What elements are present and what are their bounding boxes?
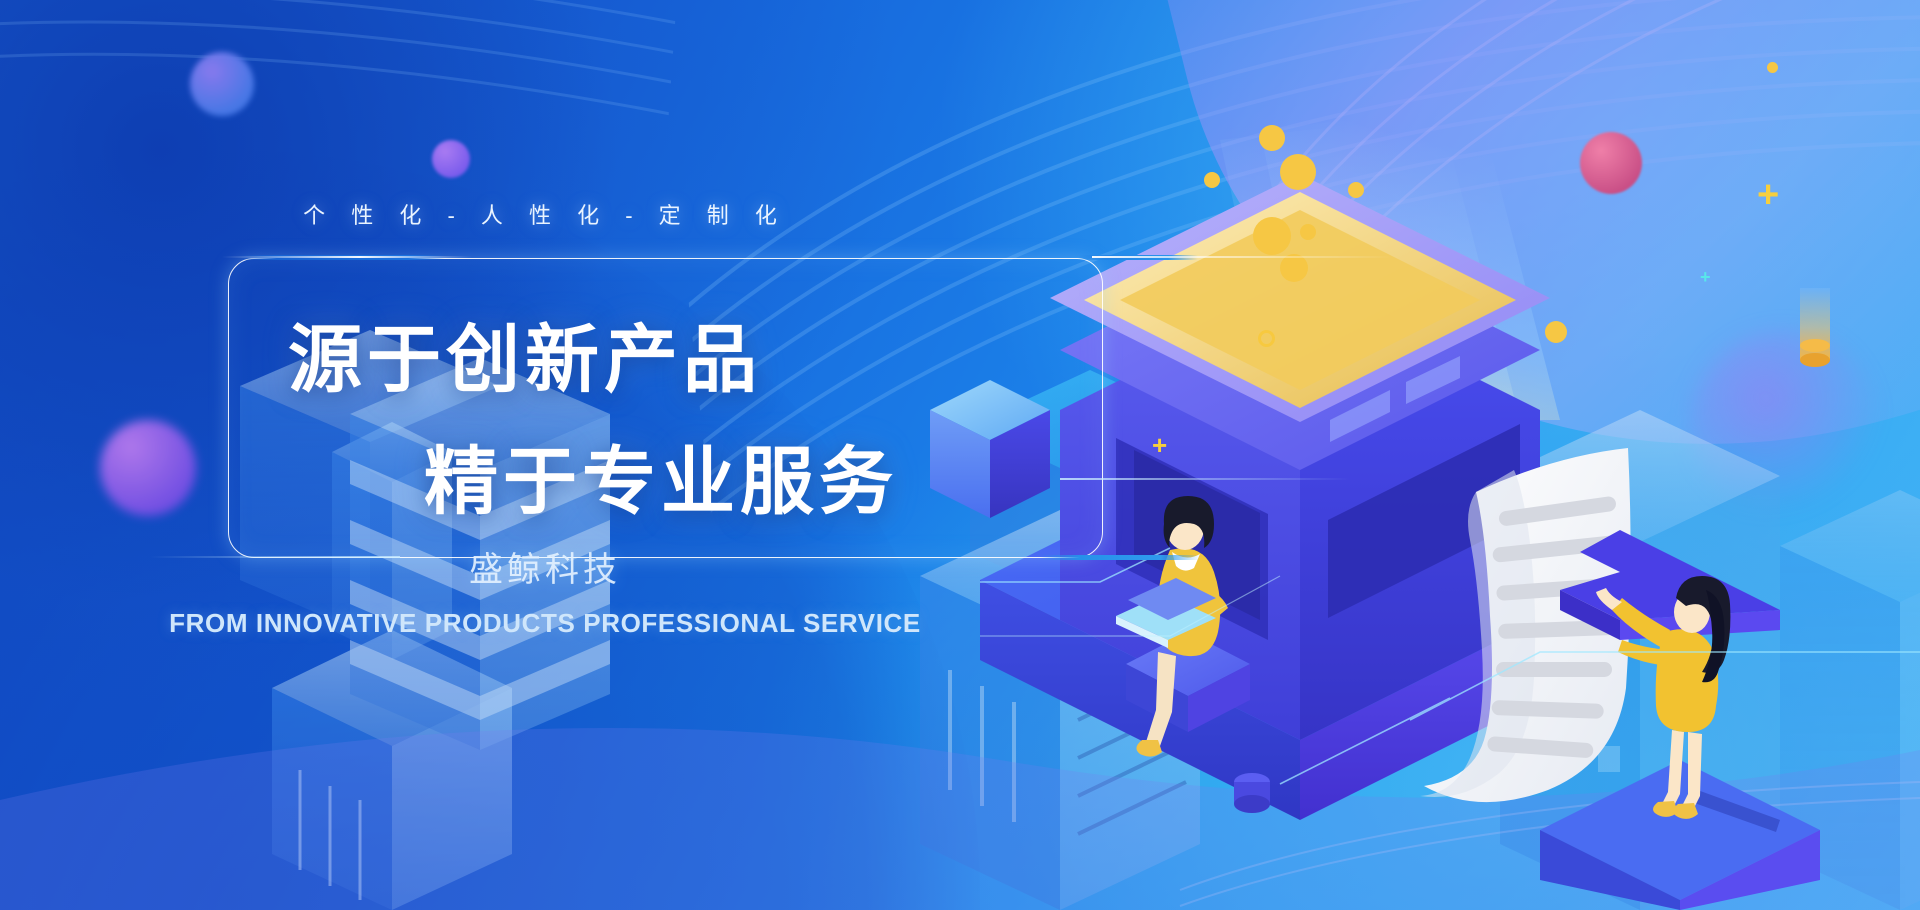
gold-cylinder — [1800, 288, 1830, 360]
yellow-dot-solo — [1767, 62, 1778, 73]
headline-line-2: 精于专业服务 — [424, 422, 898, 529]
standing-woman-with-document — [1540, 576, 1820, 910]
long-printed-document — [1420, 448, 1631, 802]
accent-line-top-left — [222, 256, 472, 258]
headline-line-1: 源于创新产品 — [288, 300, 762, 407]
plus-icon-right: + — [1757, 176, 1779, 214]
english-subline: FROM INNOVATIVE PRODUCTS PROFESSIONAL SE… — [0, 608, 1090, 639]
banner-text-block: 个 性 化 - 人 性 化 - 定 制 化 源于创新产品 精于专业服务 盛鲸科技… — [0, 0, 1300, 910]
company-name: 盛鲸科技 — [0, 542, 1090, 591]
tagline: 个 性 化 - 人 性 化 - 定 制 化 — [0, 198, 1090, 230]
decorative-glow-violet — [1690, 330, 1880, 520]
accent-line-top-right — [1092, 256, 1392, 258]
plus-icon-small-right: + — [1700, 268, 1711, 286]
accent-line-middle-right — [1060, 478, 1350, 480]
decorative-sphere-pink — [1580, 132, 1642, 194]
hero-banner: + + + 个 性 化 - 人 性 化 - 定 制 化 源于创新产品 — [0, 0, 1920, 910]
arrow-plinth — [1560, 530, 1780, 640]
